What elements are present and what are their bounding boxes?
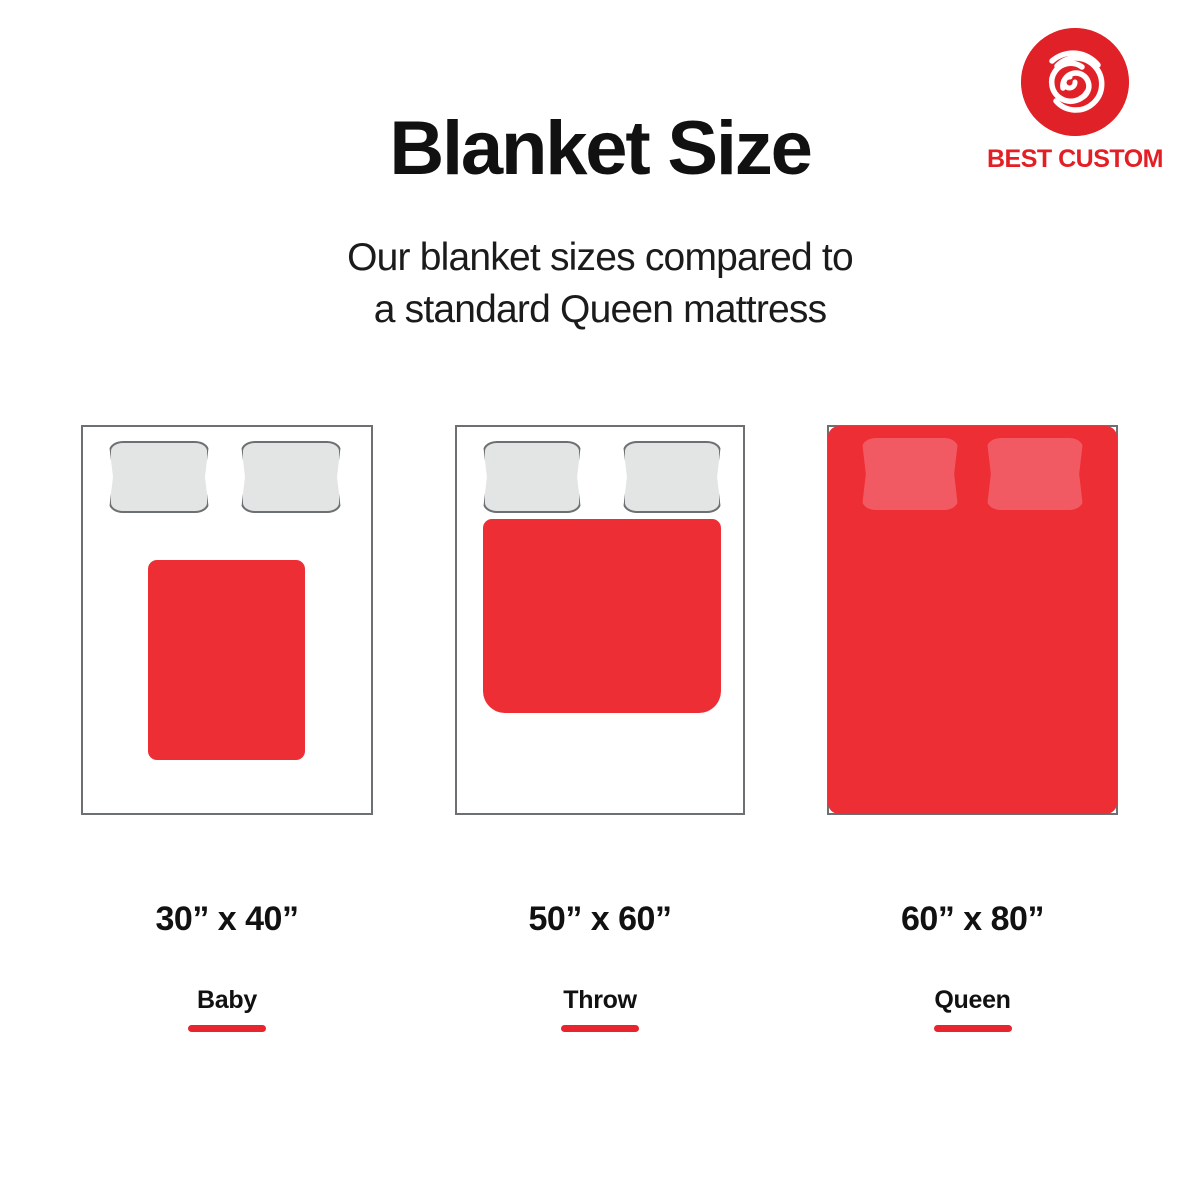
size-name-label: Baby — [81, 986, 373, 1015]
caption-baby: 30” x 40” Baby — [81, 900, 373, 1032]
accent-rule — [188, 1025, 266, 1032]
caption-throw: 50” x 60” Throw — [455, 900, 745, 1032]
pillow-left-icon — [483, 441, 581, 513]
size-name-label: Queen — [827, 986, 1118, 1015]
dimension-label: 60” x 80” — [827, 900, 1118, 939]
page-title: Blanket Size — [0, 106, 1200, 192]
pillow-left-icon — [109, 441, 209, 513]
pillow-left-icon — [862, 438, 958, 510]
accent-rule — [561, 1025, 639, 1032]
blanket-size-infographic: BEST CUSTOM Blanket Size Our blanket siz… — [0, 0, 1200, 1200]
pillow-right-icon — [987, 438, 1083, 510]
size-name-label: Throw — [455, 986, 745, 1015]
pillow-right-icon — [241, 441, 341, 513]
bed-diagram-queen — [827, 425, 1118, 815]
blanket-swatch-baby — [148, 560, 305, 760]
accent-rule — [934, 1025, 1012, 1032]
pillow-right-icon — [623, 441, 721, 513]
page-subtitle: Our blanket sizes compared to a standard… — [0, 232, 1200, 336]
caption-queen: 60” x 80” Queen — [827, 900, 1118, 1032]
blanket-swatch-throw — [483, 519, 721, 713]
bed-diagram-baby — [81, 425, 373, 815]
dimension-label: 30” x 40” — [81, 900, 373, 939]
bed-diagram-throw — [455, 425, 745, 815]
dimension-label: 50” x 60” — [455, 900, 745, 939]
